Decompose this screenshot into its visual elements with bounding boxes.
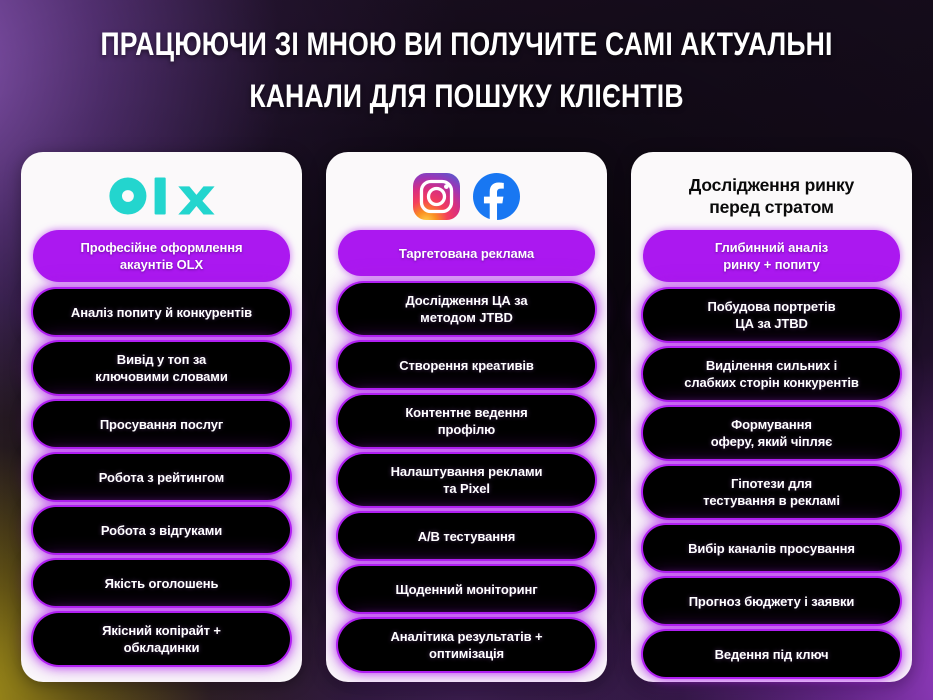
service-list-social: Таргетована рекламаДослідження ЦА за мет… [338,230,595,671]
card-header-research: Дослідження ринку перед стратом [643,162,900,230]
service-pill[interactable]: Формування оферу, який чіпляє [643,407,900,459]
service-list-research: Глибинний аналіз ринку + попитуПобудова … [643,230,900,677]
service-pill[interactable]: Гіпотези для тестування в рекламі [643,466,900,518]
page-title-line-2: КАНАЛИ ДЛЯ ПОШУКУ КЛІЄНТІВ [79,70,853,122]
page-title-line-1: ПРАЦЮЮЧИ ЗІ МНОЮ ВИ ПОЛУЧИТЕ САМІ АКТУАЛ… [79,18,853,70]
service-pill[interactable]: Щоденний моніторинг [338,566,595,612]
channel-columns: Професійне оформлення акаунтів OLXАналіз… [0,152,933,682]
service-pill[interactable]: Побудова портретів ЦА за JTBD [643,289,900,341]
card-header-olx [33,162,290,230]
service-pill-highlight[interactable]: Таргетована реклама [338,230,595,276]
card-header-social [338,162,595,230]
service-pill[interactable]: Просування послуг [33,401,290,447]
facebook-logo [473,173,520,220]
service-pill[interactable]: Створення креативів [338,342,595,388]
olx-logo [106,176,218,216]
service-pill[interactable]: Контентне ведення профілю [338,395,595,447]
service-pill[interactable]: Робота з відгуками [33,507,290,553]
card-header-text-research: Дослідження ринку перед стратом [689,174,854,218]
channel-card-social: Таргетована рекламаДослідження ЦА за мет… [326,152,607,682]
service-pill[interactable]: Якість оголошень [33,560,290,606]
service-pill[interactable]: Прогноз бюджету і заявки [643,578,900,624]
service-pill-highlight[interactable]: Професійне оформлення акаунтів OLX [33,230,290,282]
channel-card-olx: Професійне оформлення акаунтів OLXАналіз… [21,152,302,682]
service-pill[interactable]: Вивід у топ за ключовими словами [33,342,290,394]
service-pill[interactable]: Вибір каналів просування [643,525,900,571]
service-pill[interactable]: Аналітика результатів + оптимізація [338,619,595,671]
service-pill[interactable]: Дослідження ЦА за методом JTBD [338,283,595,335]
service-pill-highlight[interactable]: Глибинний аналіз ринку + попиту [643,230,900,282]
service-pill[interactable]: Аналіз попиту й конкурентів [33,289,290,335]
page-title: ПРАЦЮЮЧИ ЗІ МНОЮ ВИ ПОЛУЧИТЕ САМІ АКТУАЛ… [0,18,933,122]
channel-card-research: Дослідження ринку перед стратомГлибинний… [631,152,912,682]
service-pill[interactable]: Налаштування реклами та Pixel [338,454,595,506]
service-list-olx: Професійне оформлення акаунтів OLXАналіз… [33,230,290,670]
service-pill[interactable]: Ведення під ключ [643,631,900,677]
instagram-logo [413,173,460,220]
service-pill[interactable]: Виділення сильних і слабких сторін конку… [643,348,900,400]
service-pill[interactable]: Робота з рейтингом [33,454,290,500]
service-pill[interactable]: Якісний копірайт + обкладинки [33,613,290,665]
service-pill[interactable]: A/B тестування [338,513,595,559]
